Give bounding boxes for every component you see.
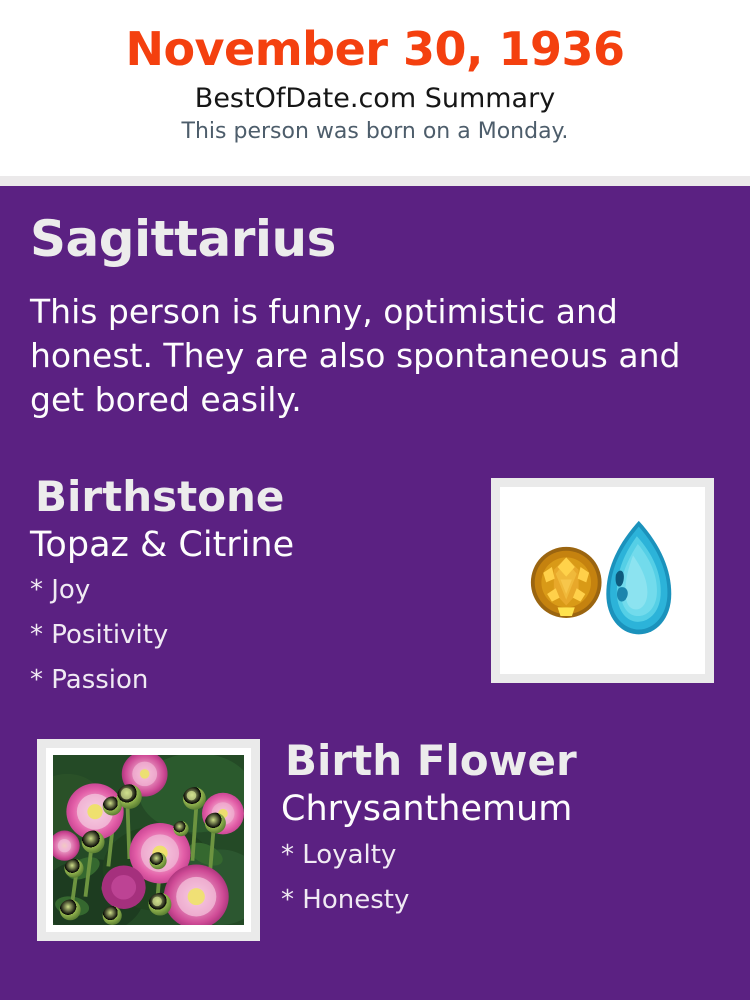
birth-flower-trait-list: * Loyalty * Honesty bbox=[281, 842, 409, 932]
birth-flower-name: Chrysanthemum bbox=[281, 792, 572, 827]
card-body: Sagittarius This person is funny, optimi… bbox=[0, 186, 750, 1000]
birthstone-name: Topaz & Citrine bbox=[30, 528, 294, 563]
list-item: * Honesty bbox=[281, 887, 409, 913]
site-subtitle: BestOfDate.com Summary bbox=[0, 84, 750, 114]
list-item: * Joy bbox=[30, 577, 168, 603]
birth-flower-heading: Birth Flower bbox=[285, 740, 577, 782]
card-header: November 30, 1936 BestOfDate.com Summary… bbox=[0, 0, 750, 176]
zodiac-sign-name: Sagittarius bbox=[30, 214, 336, 264]
summary-card: November 30, 1936 BestOfDate.com Summary… bbox=[0, 0, 750, 1000]
list-item: * Positivity bbox=[30, 622, 168, 648]
chrysanthemum-image bbox=[53, 755, 244, 925]
list-item: * Loyalty bbox=[281, 842, 409, 868]
list-item: * Passion bbox=[30, 667, 168, 693]
birthstone-image-mat bbox=[500, 487, 705, 674]
zodiac-description: This person is funny, optimistic and hon… bbox=[30, 290, 730, 422]
birthstone-trait-list: * Joy * Positivity * Passion bbox=[30, 577, 168, 712]
header-divider bbox=[0, 176, 750, 186]
birth-flower-image-mat bbox=[46, 748, 251, 932]
birthstone-image-frame bbox=[491, 478, 714, 683]
birth-day-note: This person was born on a Monday. bbox=[0, 120, 750, 144]
birth-flower-image-frame bbox=[37, 739, 260, 941]
page-title: November 30, 1936 bbox=[0, 24, 750, 75]
birthstone-heading: Birthstone bbox=[35, 476, 284, 518]
gemstones-image bbox=[507, 494, 698, 667]
